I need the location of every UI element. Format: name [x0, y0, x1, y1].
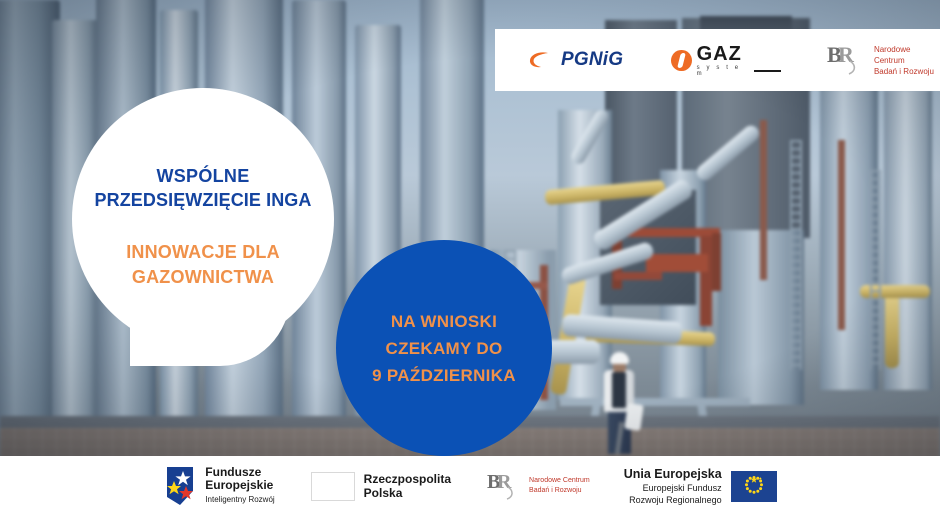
logo-gaz-system[interactable]: GAZ s y s t e m: [671, 44, 781, 77]
gaz-subtitle: s y s t e m: [697, 65, 751, 77]
ncbr-line2: Badań i Rozwoju: [874, 67, 934, 76]
logo-rzeczpospolita-polska[interactable]: Rzeczpospolita Polska: [311, 472, 451, 501]
fe-line2: Europejskie: [205, 479, 274, 492]
fundusze-europejskie-text: Fundusze Europejskie Inteligentny Rozwój: [205, 466, 274, 506]
ncbr-monogram-icon: B R: [487, 470, 523, 502]
callout-headline-line2: PRZEDSIĘWZIĘCIE INGA: [94, 188, 311, 212]
gaz-rule: [754, 70, 781, 72]
deadline-line2: CZEKAMY DO: [386, 335, 503, 362]
top-logo-bar: PGNiG GAZ s y s t e m B R Narodo: [495, 29, 940, 91]
rp-line1: Rzeczpospolita: [364, 472, 451, 486]
gaz-wordmark: GAZ: [697, 44, 781, 64]
gaz-system-text: GAZ s y s t e m: [697, 44, 781, 77]
poster-canvas: PGNiG GAZ s y s t e m B R Narodo: [0, 0, 940, 516]
ncbr-name-top: Narodowe Centrum Badań i Rozwoju: [874, 44, 940, 77]
blue-deadline-badge: NA WNIOSKI CZEKAMY DO 9 PAŹDZIERNIKA: [336, 240, 552, 456]
deadline-line3: 9 PAŹDZIERNIKA: [372, 362, 516, 389]
ue-line3: Rozwoju Regionalnego: [629, 494, 722, 506]
logo-fundusze-europejskie[interactable]: Fundusze Europejskie Inteligentny Rozwój: [163, 466, 274, 506]
pgnig-flame-icon: [528, 50, 554, 70]
unia-europejska-text: Unia Europejska Europejski Fundusz Rozwo…: [624, 467, 722, 506]
callout-subhead-line1: INNOWACJE DLA: [126, 240, 280, 265]
gaz-subtitle-row: s y s t e m: [697, 65, 781, 77]
ue-line1: Unia Europejska: [624, 467, 722, 482]
logo-ncbr-top[interactable]: B R Narodowe Centrum Badań i Rozwoju: [827, 43, 940, 77]
white-callout-text: WSPÓLNE PRZEDSIĘWZIĘCIE INGA INNOWACJE D…: [72, 88, 334, 366]
ncbr-bottom-line2: Badań i Rozwoju: [529, 487, 582, 494]
rzeczpospolita-text: Rzeczpospolita Polska: [364, 472, 451, 500]
callout-subhead-line2: GAZOWNICTWA: [132, 265, 274, 290]
logo-pgnig[interactable]: PGNiG: [528, 49, 623, 71]
logo-ncbr-bottom[interactable]: B R Narodowe Centrum Badań i Rozwoju: [487, 470, 590, 502]
ncbr-line1: Narodowe Centrum: [874, 45, 910, 65]
gaz-system-circle-icon: [671, 50, 691, 71]
ncbr-bottom-line1: Narodowe Centrum: [529, 477, 590, 484]
white-callout-shape: WSPÓLNE PRZEDSIĘWZIĘCIE INGA INNOWACJE D…: [72, 88, 334, 366]
callout-headline-line1: WSPÓLNE: [156, 164, 249, 188]
rp-line2: Polska: [364, 486, 451, 500]
ncbr-name-bottom: Narodowe Centrum Badań i Rozwoju: [529, 476, 590, 496]
ncbr-monogram-icon: B R: [827, 43, 867, 77]
ue-line2: Europejski Fundusz: [643, 482, 722, 494]
logo-unia-europejska[interactable]: Unia Europejska Europejski Fundusz Rozwo…: [624, 467, 777, 506]
eu-flag-icon: [731, 471, 777, 502]
fundusze-europejskie-icon: [163, 467, 197, 505]
pgnig-wordmark: PGNiG: [561, 49, 623, 71]
fe-line3: Inteligentny Rozwój: [205, 494, 274, 506]
bottom-logo-bar: Fundusze Europejskie Inteligentny Rozwój…: [0, 456, 940, 516]
poland-flag-icon: [311, 472, 355, 501]
svg-text:R: R: [497, 471, 512, 493]
deadline-line1: NA WNIOSKI: [391, 308, 497, 335]
